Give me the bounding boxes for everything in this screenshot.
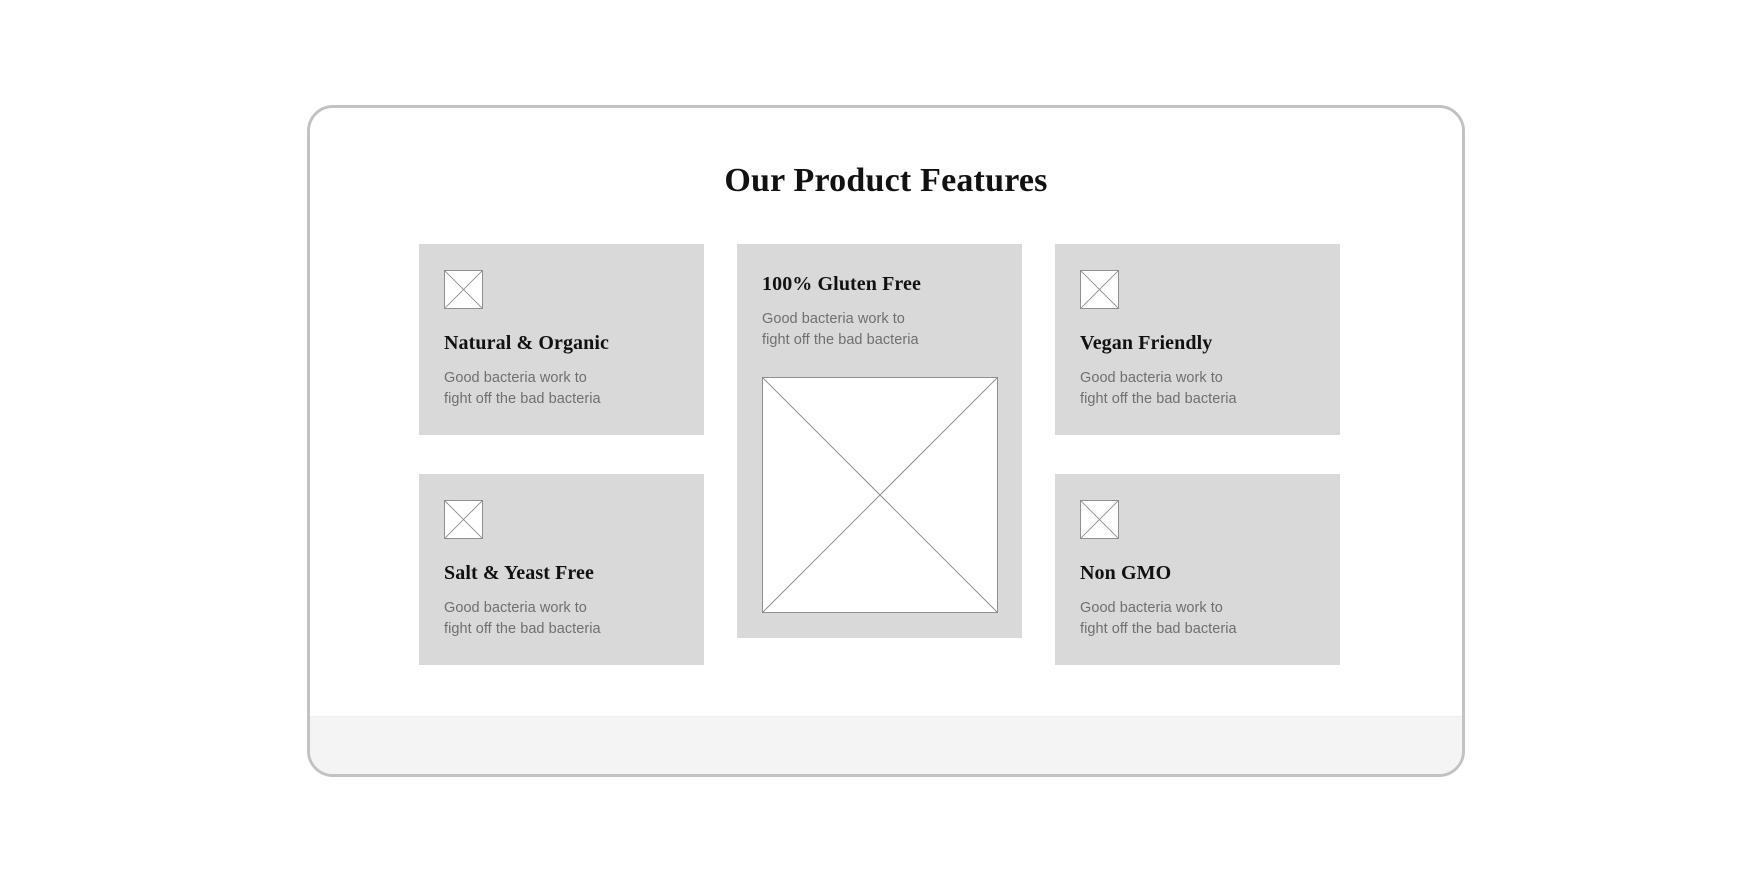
feature-card-natural-organic[interactable]: Natural & Organic Good bacteria work to … [419, 244, 704, 435]
feature-card-body-line-2: fight off the bad bacteria [444, 619, 654, 640]
feature-card-gluten-free[interactable]: 100% Gluten Free Good bacteria work to f… [737, 244, 1022, 638]
browser-mockup-frame: Our Product Features Natural & Organic [307, 105, 1465, 777]
features-column-left: Natural & Organic Good bacteria work to … [419, 244, 704, 665]
page-viewport: Our Product Features Natural & Organic [310, 108, 1462, 716]
image-placeholder-large [762, 377, 998, 613]
image-placeholder-icon [1080, 270, 1119, 309]
feature-card-title: Natural & Organic [444, 331, 679, 355]
feature-card-body-line-2: fight off the bad bacteria [444, 389, 654, 410]
image-placeholder-icon [444, 500, 483, 539]
feature-card-salt-yeast-free[interactable]: Salt & Yeast Free Good bacteria work to … [419, 474, 704, 665]
feature-card-body-line-1: Good bacteria work to [1080, 598, 1290, 619]
features-grid: Natural & Organic Good bacteria work to … [419, 244, 1339, 665]
feature-card-body: Good bacteria work to fight off the bad … [444, 598, 654, 639]
feature-card-body-line-1: Good bacteria work to [444, 368, 654, 389]
feature-card-non-gmo[interactable]: Non GMO Good bacteria work to fight off … [1055, 474, 1340, 665]
features-column-right: Vegan Friendly Good bacteria work to fig… [1055, 244, 1340, 665]
feature-card-body-line-1: Good bacteria work to [762, 309, 972, 330]
feature-card-body: Good bacteria work to fight off the bad … [1080, 598, 1290, 639]
feature-card-vegan-friendly[interactable]: Vegan Friendly Good bacteria work to fig… [1055, 244, 1340, 435]
feature-card-body-line-2: fight off the bad bacteria [762, 330, 972, 351]
mockup-footer-strip [310, 716, 1462, 774]
feature-card-body-line-2: fight off the bad bacteria [1080, 619, 1290, 640]
feature-card-title: Vegan Friendly [1080, 331, 1315, 355]
page-title: Our Product Features [310, 161, 1462, 200]
feature-card-body-line-1: Good bacteria work to [1080, 368, 1290, 389]
feature-card-body-line-1: Good bacteria work to [444, 598, 654, 619]
feature-card-body: Good bacteria work to fight off the bad … [762, 309, 972, 350]
screenshot-stage: Our Product Features Natural & Organic [0, 0, 1760, 880]
feature-card-title: Non GMO [1080, 561, 1315, 585]
feature-card-body-line-2: fight off the bad bacteria [1080, 389, 1290, 410]
feature-card-title: 100% Gluten Free [762, 272, 997, 296]
features-column-middle: 100% Gluten Free Good bacteria work to f… [737, 244, 1022, 638]
image-placeholder-icon [444, 270, 483, 309]
feature-card-body: Good bacteria work to fight off the bad … [1080, 368, 1290, 409]
image-placeholder-icon [1080, 500, 1119, 539]
feature-card-body: Good bacteria work to fight off the bad … [444, 368, 654, 409]
feature-card-title: Salt & Yeast Free [444, 561, 679, 585]
